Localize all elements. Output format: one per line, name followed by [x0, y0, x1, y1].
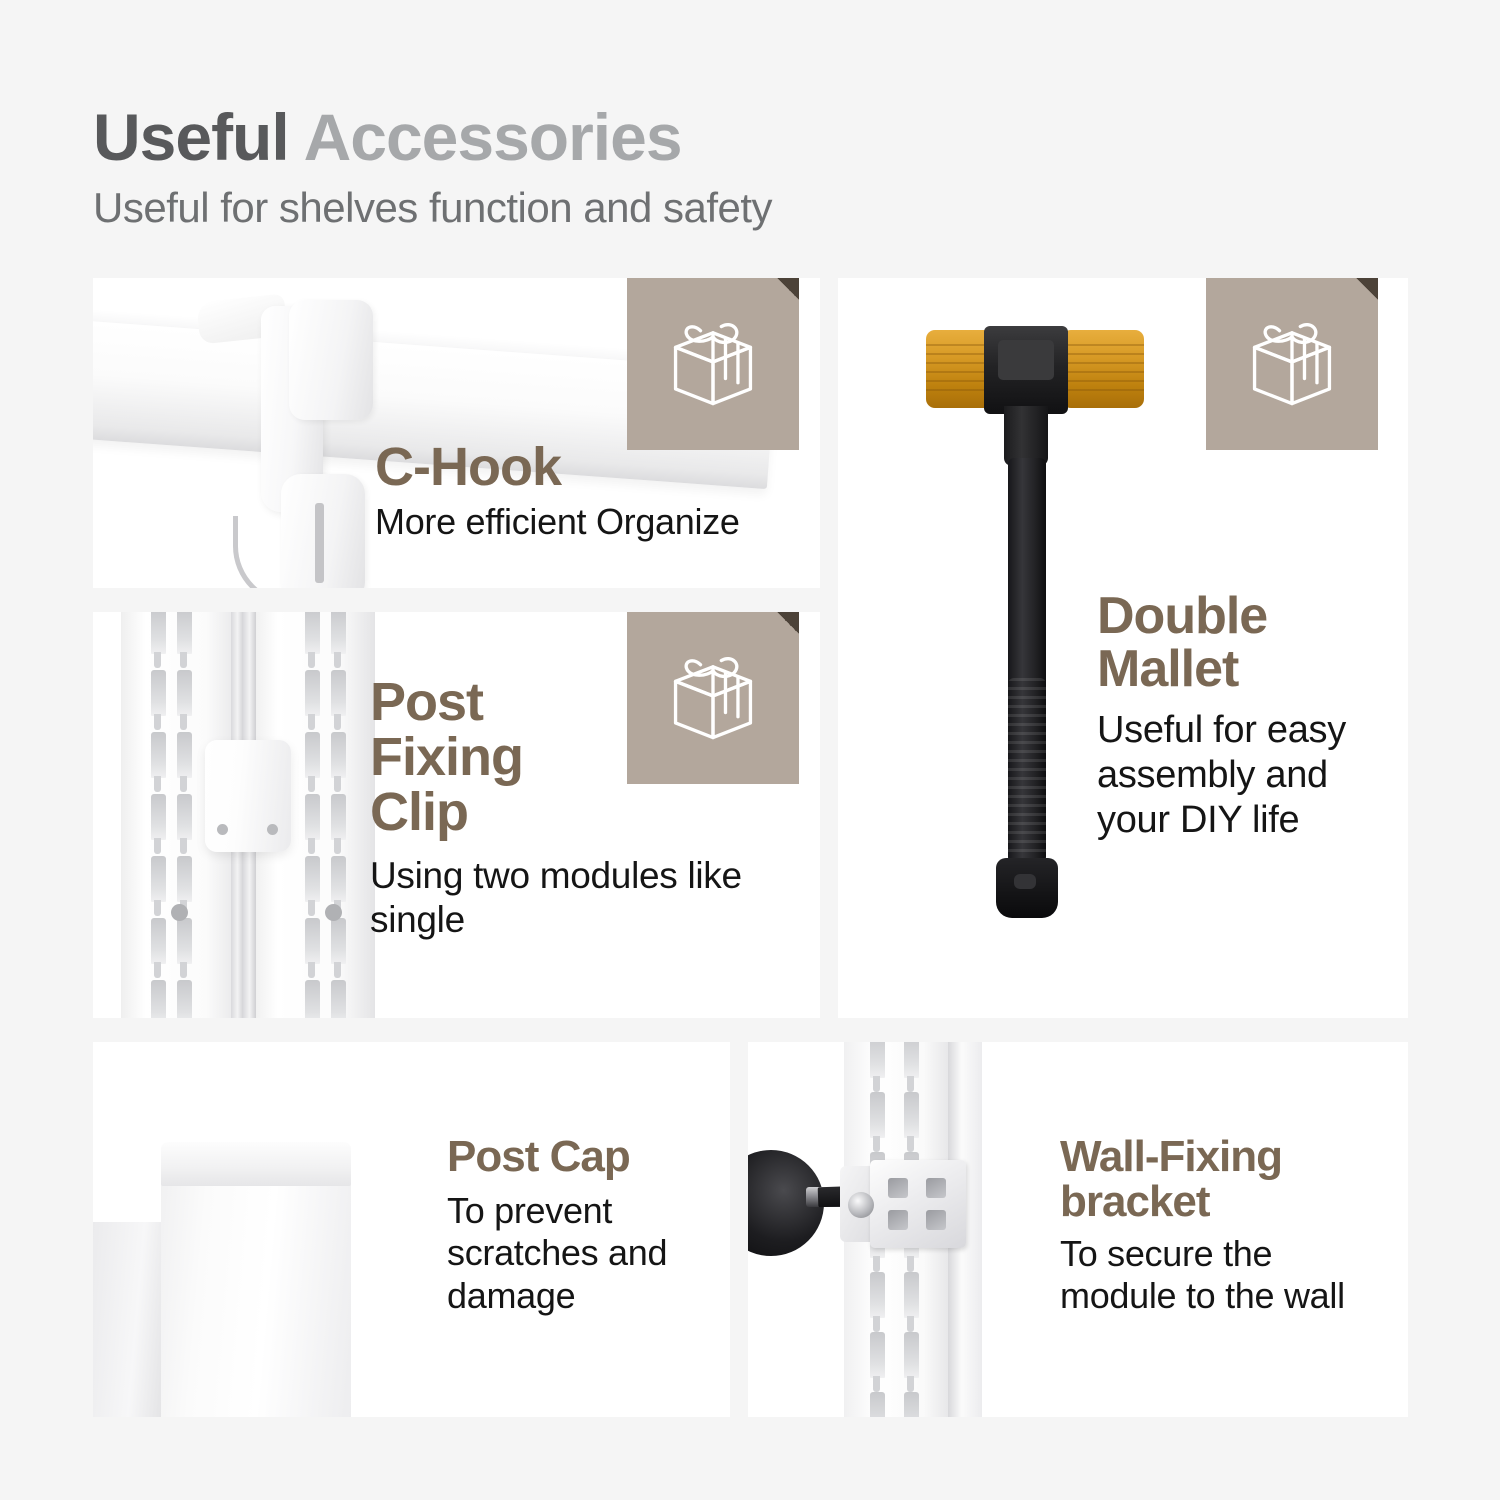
hook-wire: [233, 516, 343, 588]
mallet-neck: [1004, 406, 1048, 466]
post-slot: [305, 980, 320, 1018]
post-slot: [151, 732, 166, 778]
card-heading-post-cap: Post Cap: [447, 1135, 687, 1180]
post-slot: [331, 794, 346, 840]
post-cap-top: [161, 1142, 351, 1186]
product-image-post-fixing-clip: [93, 612, 393, 1018]
post-slot: [177, 794, 192, 840]
post-slot: [870, 1392, 885, 1417]
bracket-hole-top-right: [926, 1178, 946, 1198]
post-slot: [331, 918, 346, 964]
text-block-wall-fixing-bracket: Wall-Fixing bracket To secure the module…: [1060, 1135, 1380, 1318]
post-slot: [870, 1272, 885, 1318]
page-subtitle: Useful for shelves function and safety: [93, 184, 1413, 232]
card-body-c-hook: More efficient Organize: [375, 501, 740, 543]
card-body-post-fixing-clip: Using two modules like single: [370, 854, 750, 941]
page-title: Useful Accessories: [93, 103, 1413, 172]
card-heading-double-mallet-line1: Double: [1097, 590, 1387, 643]
bracket-plate: [870, 1160, 966, 1248]
post-slot: [151, 980, 166, 1018]
card-body-post-cap: To prevent scratches and damage: [447, 1190, 687, 1317]
post-slot: [904, 1332, 919, 1378]
post-hole-right: [325, 904, 342, 921]
post-slot: [305, 794, 320, 840]
text-block-post-fixing-clip: Post Fixing Clip Using two modules like …: [370, 675, 750, 942]
post-slot: [177, 612, 192, 654]
post-slot: [331, 980, 346, 1018]
post-slot: [331, 856, 346, 902]
post-slot: [870, 1042, 885, 1078]
post-slot: [870, 1332, 885, 1378]
mallet-face-right: [1062, 330, 1144, 408]
post-slot: [177, 856, 192, 902]
gift-box-icon: [661, 312, 765, 416]
card-body-wall-fixing-bracket: To secure the module to the wall: [1060, 1233, 1380, 1318]
post-slot: [331, 670, 346, 716]
header: Useful Accessories Useful for shelves fu…: [93, 103, 1413, 232]
text-block-post-cap: Post Cap To prevent scratches and damage: [447, 1135, 687, 1317]
clip-hole-left: [217, 824, 228, 835]
post-slot: [904, 1042, 919, 1078]
badge-corner-fold: [777, 278, 799, 300]
post-slot: [305, 670, 320, 716]
post-slot: [870, 1092, 885, 1138]
post-fixing-clip-part: [205, 740, 291, 852]
post-slot: [177, 918, 192, 964]
post-slot: [151, 612, 166, 654]
card-heading-wall-fixing-bracket-line1: Wall-Fixing: [1060, 1135, 1380, 1180]
bracket-hole-bottom-left: [888, 1210, 908, 1230]
card-heading-wall-fixing-bracket-line2: bracket: [1060, 1180, 1380, 1225]
post-slot: [904, 1092, 919, 1138]
post-slot: [305, 856, 320, 902]
mallet-grip: [1008, 678, 1046, 878]
page-title-part-two: Accessories: [304, 100, 682, 174]
post-slot: [904, 1272, 919, 1318]
badge-corner-fold: [777, 612, 799, 634]
post-slot: [305, 612, 320, 654]
post-cap-side-face: [93, 1222, 163, 1417]
badge-corner-fold: [1356, 278, 1378, 300]
text-block-c-hook: C-Hook More efficient Organize: [375, 440, 740, 544]
clip-hole-right: [267, 824, 278, 835]
gift-badge-double-mallet: [1206, 278, 1378, 450]
mallet-head: [984, 326, 1068, 414]
card-body-double-mallet: Useful for easy assembly and your DIY li…: [1097, 708, 1387, 842]
post-slot: [331, 612, 346, 654]
card-heading-post-fixing-clip-line1: Post: [370, 675, 750, 730]
hook-stem: [315, 503, 324, 583]
post-slot: [177, 980, 192, 1018]
post-slot: [151, 918, 166, 964]
post-slot: [305, 918, 320, 964]
mallet-butt-cap: [996, 858, 1058, 918]
card-heading-post-fixing-clip-line3: Clip: [370, 785, 750, 840]
post-hole-left: [171, 904, 188, 921]
post-slot: [151, 794, 166, 840]
post-cap-body: [161, 1182, 351, 1417]
gift-box-icon: [1240, 312, 1344, 416]
post-slot: [151, 856, 166, 902]
bracket-hole-top-left: [888, 1178, 908, 1198]
card-heading-post-fixing-clip-line2: Fixing: [370, 730, 750, 785]
text-block-double-mallet: Double Mallet Useful for easy assembly a…: [1097, 590, 1387, 843]
post-slot: [151, 670, 166, 716]
card-heading-double-mallet-line2: Mallet: [1097, 643, 1387, 696]
page-title-part-one: Useful: [93, 100, 304, 174]
post-slot: [904, 1392, 919, 1417]
post-slot: [305, 732, 320, 778]
post-slot: [177, 670, 192, 716]
hook-tab-upper: [289, 300, 373, 420]
bracket-screw: [848, 1192, 874, 1218]
post-slot: [177, 732, 192, 778]
post-slot: [331, 732, 346, 778]
bracket-hole-bottom-right: [926, 1210, 946, 1230]
card-heading-c-hook: C-Hook: [375, 440, 740, 495]
gift-badge-c-hook: [627, 278, 799, 450]
